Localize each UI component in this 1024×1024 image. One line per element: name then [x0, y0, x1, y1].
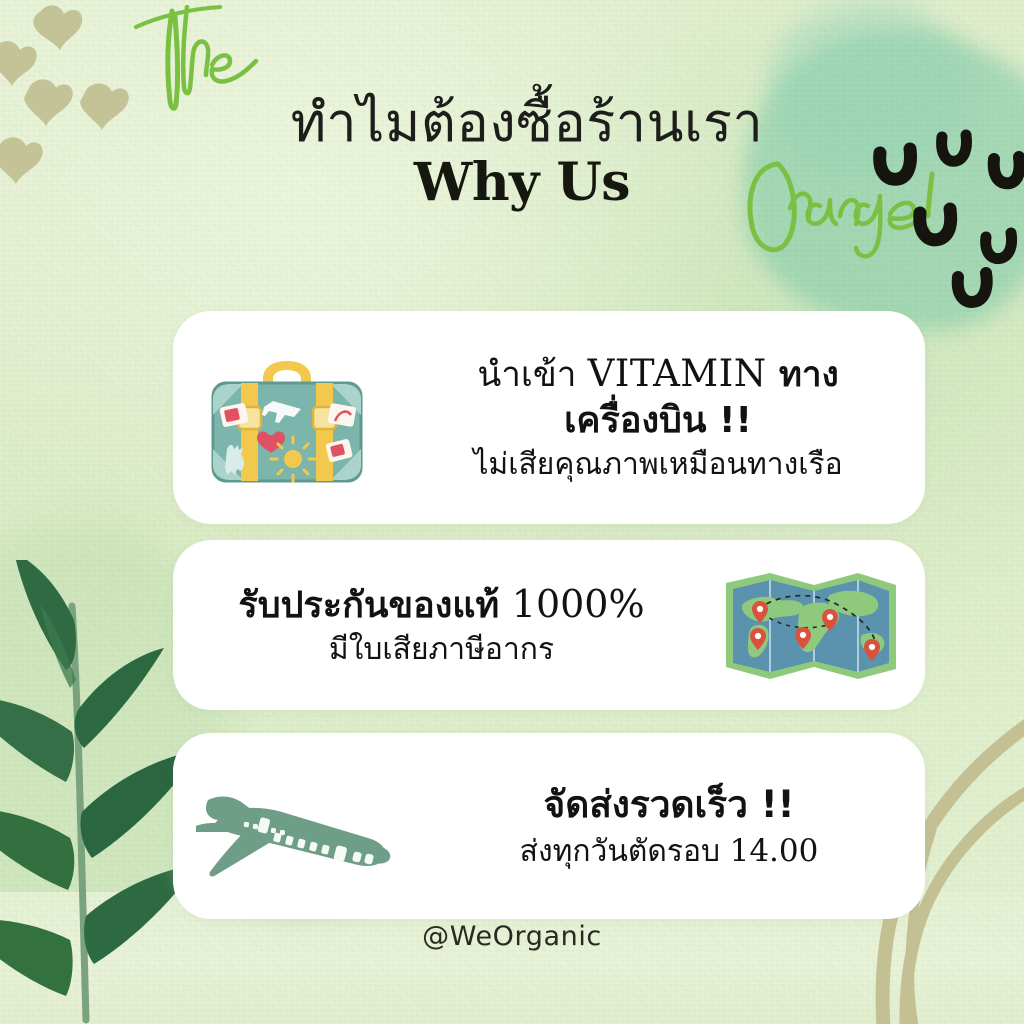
feature-card-fast-shipping[interactable]: จัดส่งรวดเร็ว !! ส่งทุกวันตัดรอบ 14.00: [173, 733, 925, 919]
airplane-icon: [186, 764, 401, 889]
vitamin-emphasis: VITAMIN: [588, 352, 767, 395]
feature-card-authenticity[interactable]: รับประกันของแท้ 1000% มีใบเสียภาษีอากร: [173, 540, 925, 710]
cutoff-time: 14.00: [730, 833, 819, 869]
guarantee-percent: 1000%: [512, 582, 645, 626]
card-3-line-1: จัดส่งรวดเร็ว !!: [413, 782, 925, 827]
card-1-artwork: [173, 343, 391, 493]
card-1-line-1: นำเข้า VITAMIN ทาง: [391, 351, 925, 397]
brand-handle: @WeOrganic: [0, 921, 1024, 952]
brush-u-marks-icon: [864, 125, 1024, 325]
suitcase-icon: [197, 343, 377, 493]
card-3-line-3: ส่งทุกวันตัดรอบ 14.00: [413, 833, 925, 871]
card-2-line-1: รับประกันของแท้ 1000%: [173, 581, 710, 628]
card-2-artwork: [710, 565, 925, 685]
card-2-line-3: มีใบเสียภาษีอากร: [173, 632, 710, 669]
world-map-icon: [718, 565, 903, 685]
card-1-line-2: เครื่องบิน !!: [391, 399, 925, 443]
card-3-artwork: [173, 764, 413, 889]
feature-card-air-import[interactable]: นำเข้า VITAMIN ทาง เครื่องบิน !! ไม่เสีย…: [173, 311, 925, 524]
card-1-text: นำเข้า VITAMIN ทาง เครื่องบิน !! ไม่เสีย…: [391, 351, 925, 483]
card-3-text: จัดส่งรวดเร็ว !! ส่งทุกวันตัดรอบ 14.00: [413, 782, 925, 871]
card-2-text: รับประกันของแท้ 1000% มีใบเสียภาษีอากร: [173, 581, 710, 669]
poster-canvas: ทำไมต้องซื้อร้านเรา Why Us: [0, 0, 1024, 1024]
card-1-line-3: ไม่เสียคุณภาพเหมือนทางเรือ: [391, 447, 925, 484]
